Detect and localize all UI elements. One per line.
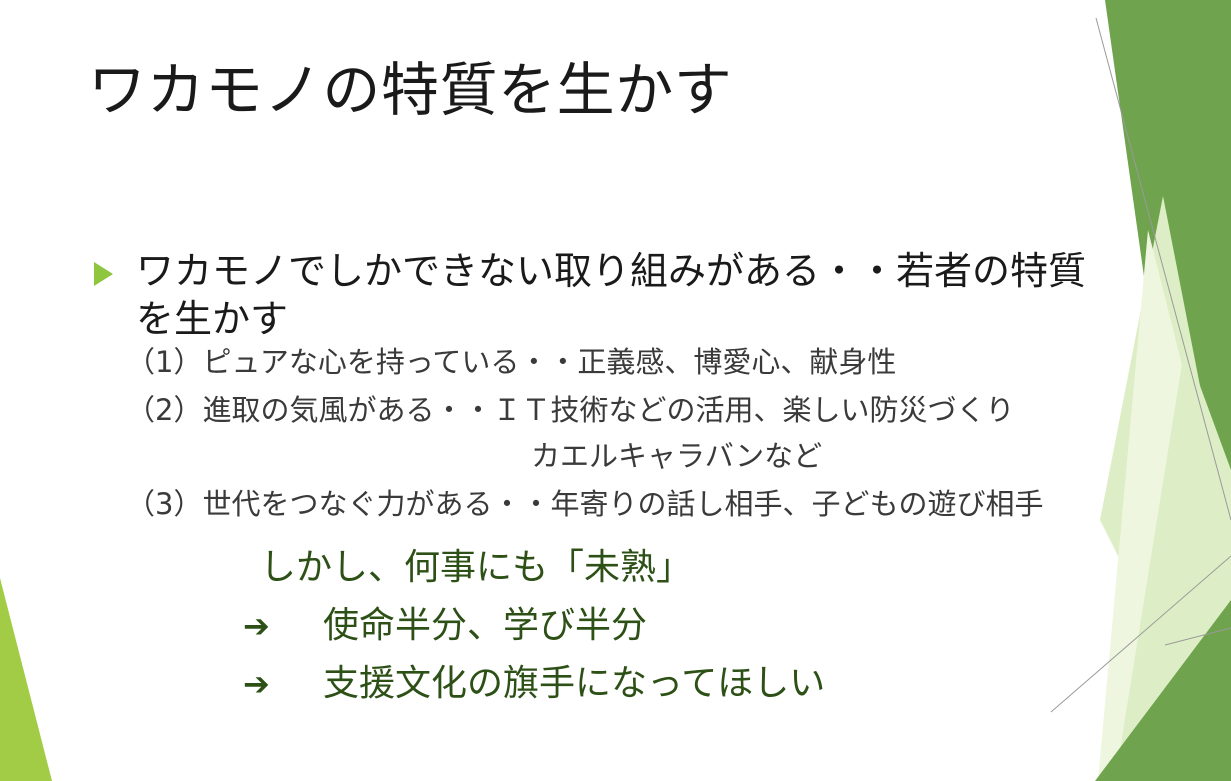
sub-line-3: カエルキャラバンなど — [531, 442, 822, 471]
presentation-slide: ワカモノの特質を生かす ワカモノでしかできない取り組みがある・・若者の特質を生か… — [0, 0, 1231, 781]
emphasis-line-3: ➔支援文化の旗手になってほしい — [243, 654, 825, 706]
slide-body: ワカモノでしかできない取り組みがある・・若者の特質を生かす （1）ピュアな心を持… — [88, 248, 1098, 344]
decor-hairline-3 — [1165, 628, 1231, 645]
emphasis-line-3-text: 支援文化の旗手になってほしい — [323, 663, 825, 704]
decor-right-paleband — [1098, 230, 1231, 781]
emphasis-line-2-text: 使命半分、学び半分 — [323, 605, 647, 646]
arrow-right-icon: ➔ — [243, 607, 323, 645]
sub-line-2: （2）進取の気風がある・・ＩＴ技術などの活用、楽しい防災づくり — [126, 396, 1014, 425]
bullet-item: ワカモノでしかできない取り組みがある・・若者の特質を生かす — [88, 248, 1098, 344]
decor-topright-wedge — [1105, 0, 1231, 545]
emphasis-line-2: ➔使命半分、学び半分 — [243, 596, 647, 648]
decor-topright-pale — [1100, 196, 1231, 781]
arrow-right-icon: ➔ — [243, 665, 323, 703]
bullet-item-text: ワカモノでしかできない取り組みがある・・若者の特質を生かす — [136, 248, 1098, 344]
decor-bottomright-wedge — [1095, 600, 1231, 781]
sub-line-4: （3）世代をつなぐ力がある・・年寄りの話し相手、子どもの遊び相手 — [126, 490, 1043, 519]
decor-right-pale-mid — [1115, 345, 1231, 781]
emphasis-line-1-text: しかし、何事にも「未熟」 — [260, 547, 692, 588]
emphasis-line-1: しかし、何事にも「未熟」 — [260, 538, 692, 590]
slide-title: ワカモノの特質を生かす — [88, 58, 732, 123]
decor-left-wedge — [0, 578, 52, 781]
sub-line-1: （1）ピュアな心を持っている・・正義感、博愛心、献身性 — [126, 348, 896, 377]
bullet-triangle-icon — [94, 262, 113, 286]
decor-hairline-2 — [1051, 556, 1231, 712]
decor-hairline-1 — [1096, 18, 1231, 520]
